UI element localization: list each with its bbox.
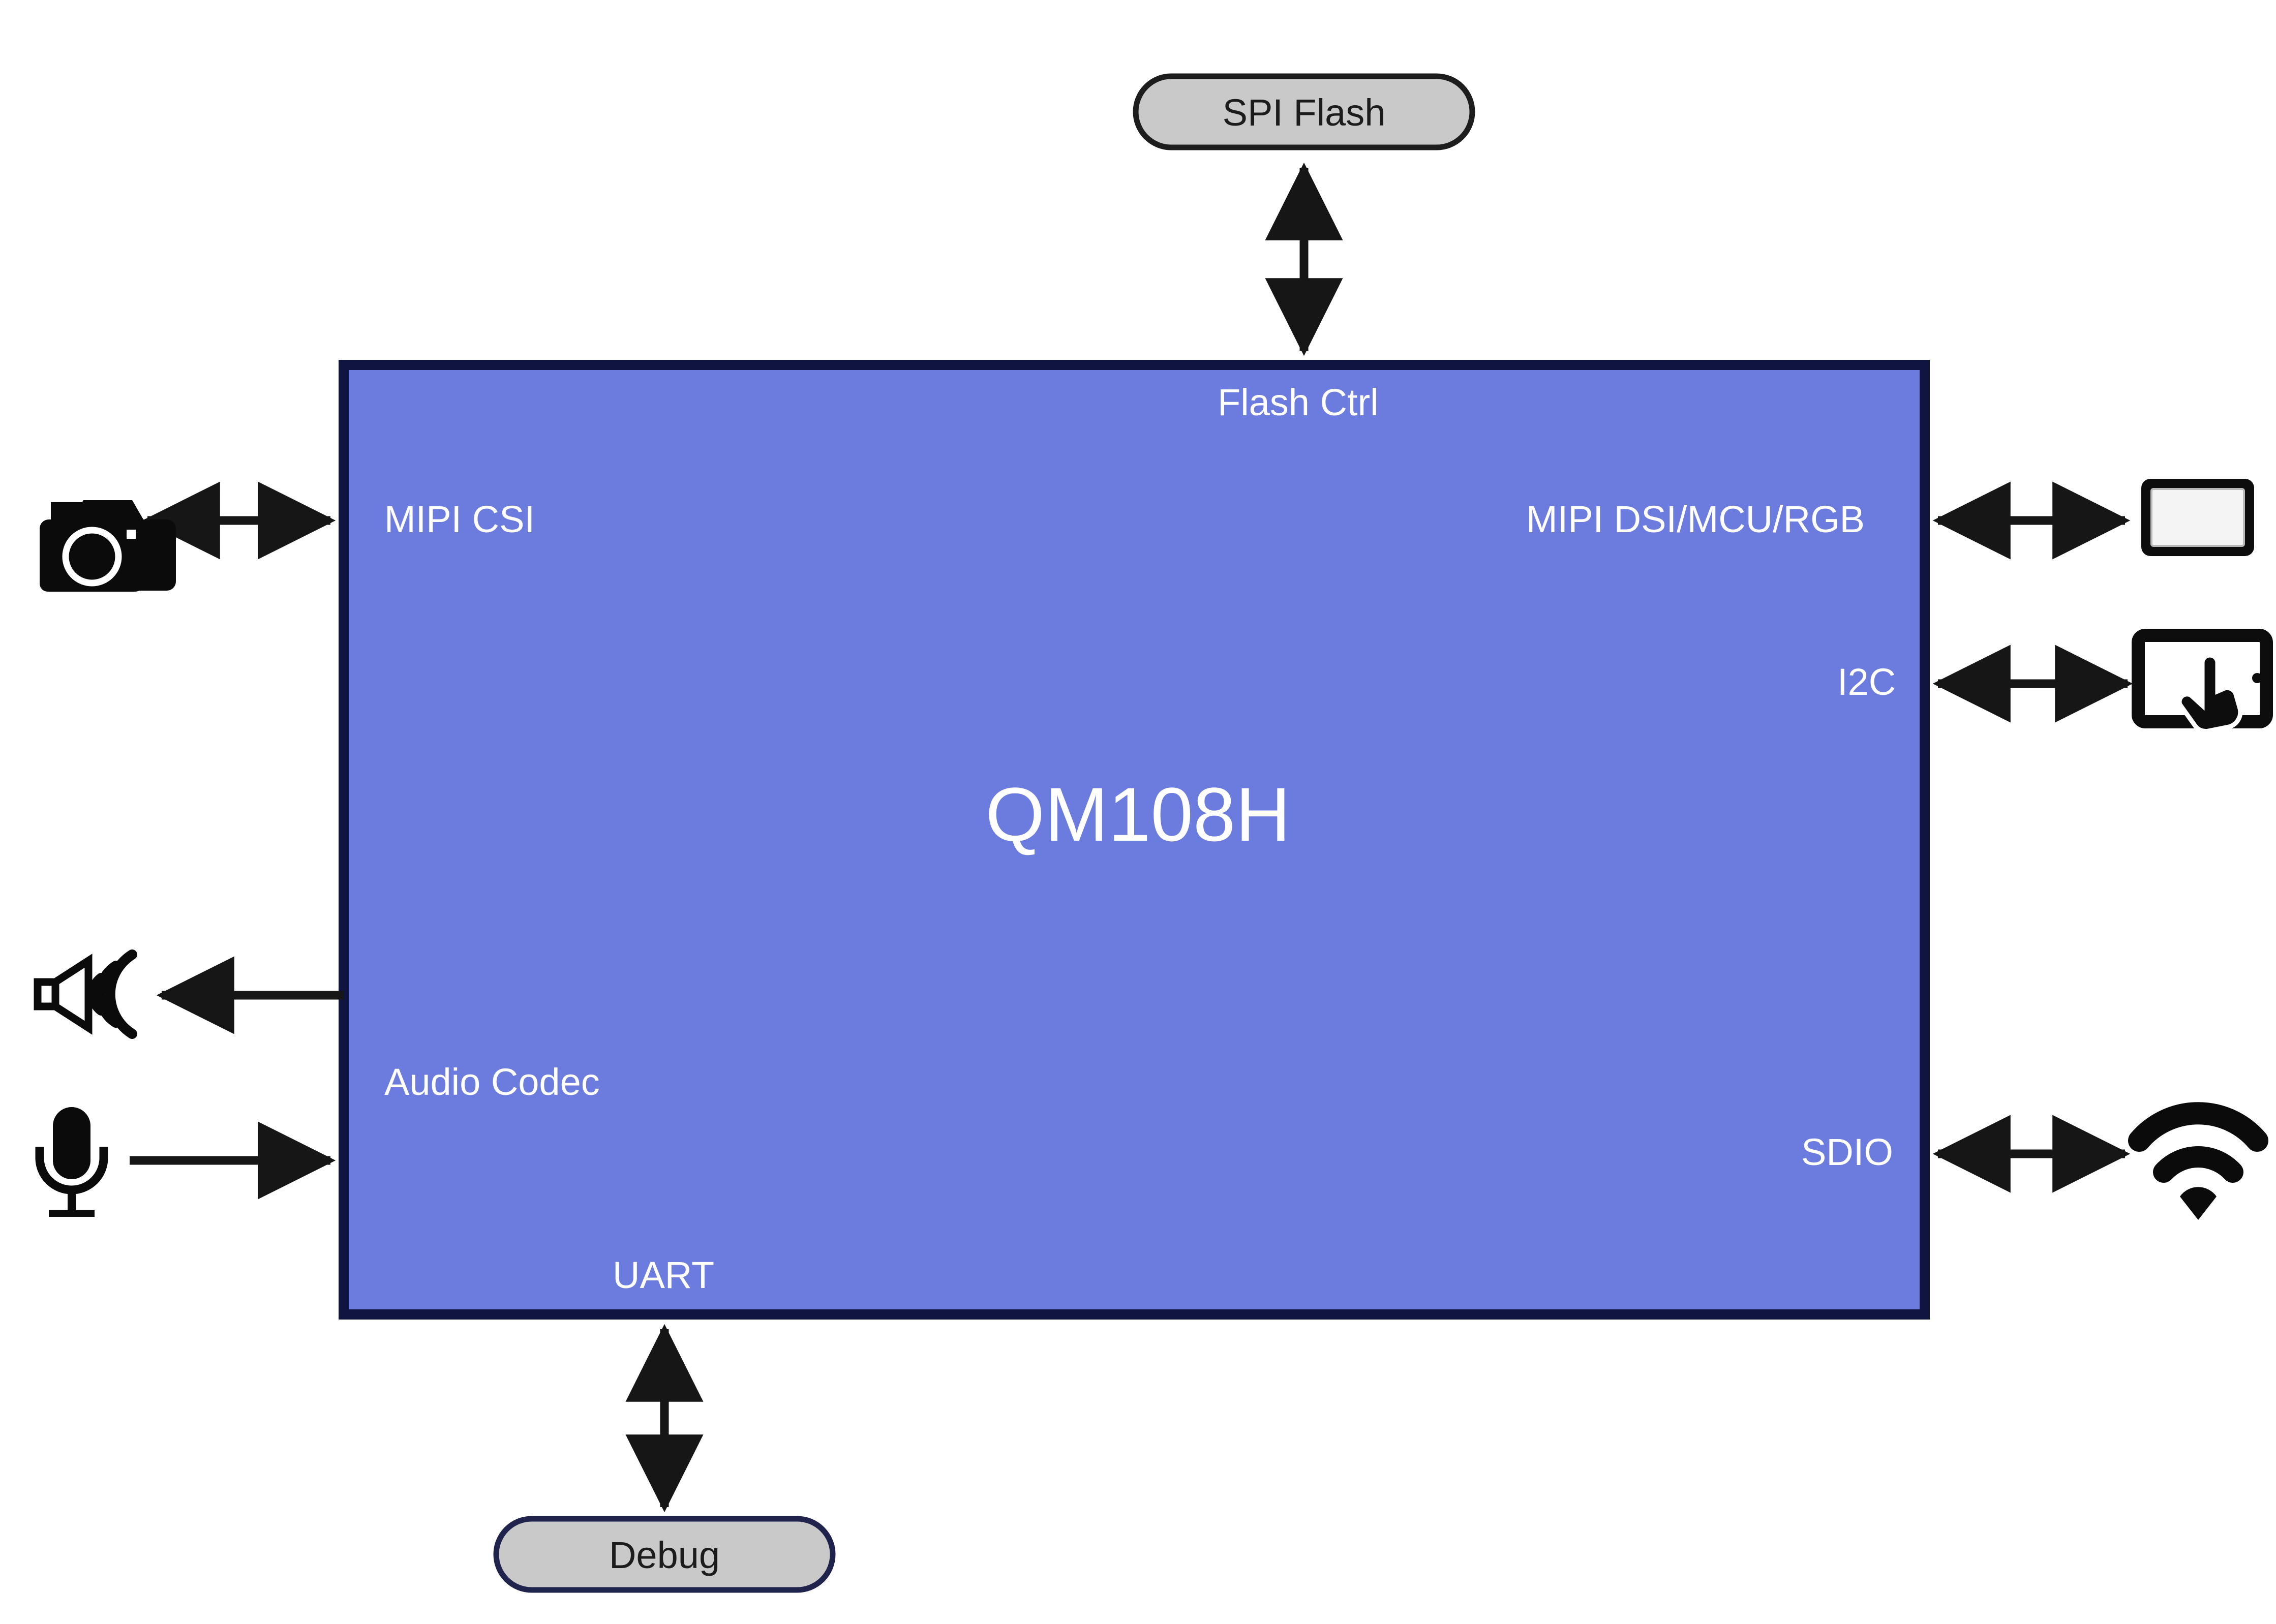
label-mipi-csi: MIPI CSI	[384, 501, 535, 538]
wifi-icon	[2139, 1113, 2257, 1220]
speaker-icon	[38, 955, 132, 1034]
chip-title: QM108H	[0, 776, 2276, 852]
debug-label: Debug	[496, 1537, 833, 1574]
display-icon	[2141, 479, 2254, 556]
label-uart: UART	[613, 1257, 714, 1294]
label-mipi-dsi: MIPI DSI/MCU/RGB	[1526, 501, 1865, 538]
label-audio-codec: Audio Codec	[384, 1063, 600, 1101]
label-i2c: I2C	[1837, 663, 1896, 701]
microphone-icon	[40, 1107, 104, 1217]
label-flash-ctrl: Flash Ctrl	[1218, 384, 1379, 421]
spi-flash-label: SPI Flash	[1136, 94, 1472, 132]
camera-icon	[40, 500, 176, 592]
label-sdio: SDIO	[1801, 1133, 1893, 1171]
diagram-canvas: Flash Ctrl MIPI CSI MIPI DSI/MCU/RGB I2C…	[0, 0, 2276, 1624]
touchscreen-icon	[2138, 635, 2266, 731]
